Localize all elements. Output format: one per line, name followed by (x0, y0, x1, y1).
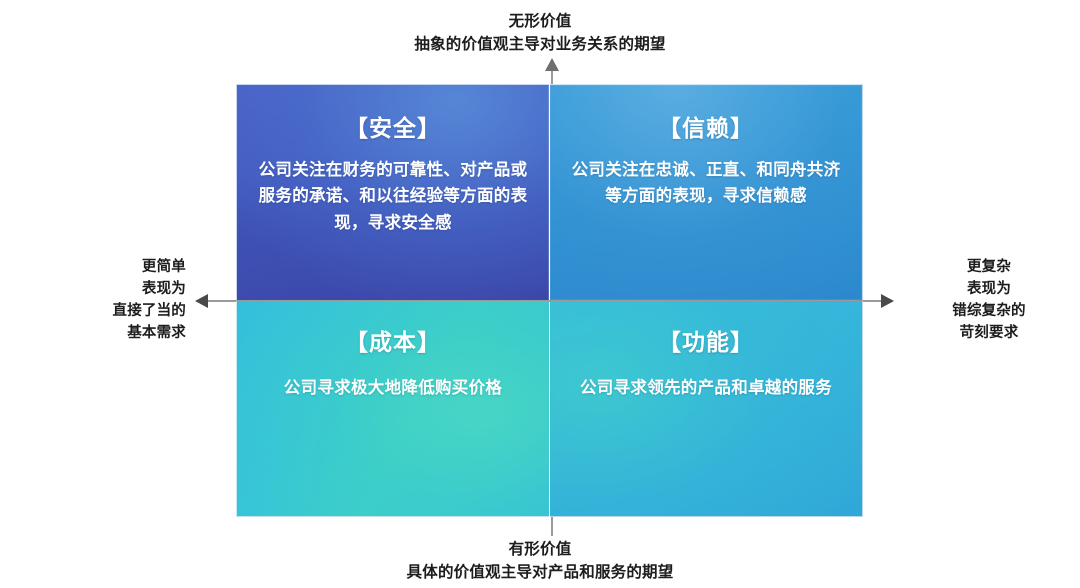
left-arrow-icon (195, 294, 208, 308)
quadrant-function-body: 公司寻求领先的产品和卓越的服务 (566, 375, 846, 402)
axis-label-top-description: 抽象的价值观主导对业务关系的期望 (0, 33, 1080, 56)
axis-label-bottom-description: 具体的价值观主导对产品和服务的期望 (0, 561, 1080, 584)
quadrant-function-content: 【功能】 公司寻求领先的产品和卓越的服务 (550, 329, 862, 401)
right-arrow-icon (881, 294, 894, 308)
quadrant-cost-body: 公司寻求极大地降低购买价格 (253, 375, 533, 402)
quadrant-security[interactable]: 【安全】 公司关注在财务的可靠性、对产品或服务的承诺、和以往经验等方面的表现，寻… (236, 84, 549, 300)
axis-label-right-line-4: 苛刻要求 (898, 322, 1080, 344)
axis-label-bottom: 有形价值 具体的价值观主导对产品和服务的期望 (0, 538, 1080, 585)
axis-label-bottom-title: 有形价值 (0, 538, 1080, 561)
quadrant-security-body: 公司关注在财务的可靠性、对产品或服务的承诺、和以往经验等方面的表现，寻求安全感 (253, 157, 533, 237)
axis-label-right-line-3: 错综复杂的 (898, 300, 1080, 322)
quadrant-trust[interactable]: 【信赖】 公司关注在忠诚、正直、和同舟共济等方面的表现，寻求信赖感 (550, 84, 863, 300)
quadrant-cost[interactable]: 【成本】 公司寻求极大地降低购买价格 (236, 301, 549, 517)
quadrant-function[interactable]: 【功能】 公司寻求领先的产品和卓越的服务 (550, 301, 863, 517)
axis-label-left-line-1: 更简单 (0, 256, 186, 278)
axis-label-left-line-2: 表现为 (0, 278, 186, 300)
axis-label-right-line-2: 表现为 (898, 278, 1080, 300)
quadrant-matrix: 【安全】 公司关注在财务的可靠性、对产品或服务的承诺、和以往经验等方面的表现，寻… (236, 84, 863, 517)
axis-label-left-line-4: 基本需求 (0, 322, 186, 344)
axis-label-left: 更简单 表现为 直接了当的 基本需求 (0, 256, 186, 344)
axis-label-top: 无形价值 抽象的价值观主导对业务关系的期望 (0, 10, 1080, 57)
quadrant-security-title: 【安全】 (253, 115, 533, 143)
axis-label-top-title: 无形价值 (0, 10, 1080, 33)
quadrant-trust-content: 【信赖】 公司关注在忠诚、正直、和同舟共济等方面的表现，寻求信赖感 (550, 115, 862, 210)
quadrant-function-title: 【功能】 (566, 329, 846, 357)
quadrant-cost-content: 【成本】 公司寻求极大地降低购买价格 (237, 329, 549, 401)
axis-label-left-line-3: 直接了当的 (0, 300, 186, 322)
up-arrow-icon (545, 58, 559, 71)
quadrant-trust-body: 公司关注在忠诚、正直、和同舟共济等方面的表现，寻求信赖感 (566, 157, 846, 210)
axis-label-right: 更复杂 表现为 错综复杂的 苛刻要求 (898, 256, 1080, 344)
quadrant-trust-title: 【信赖】 (566, 115, 846, 143)
value-matrix-diagram: 【安全】 公司关注在财务的可靠性、对产品或服务的承诺、和以往经验等方面的表现，寻… (0, 0, 1080, 588)
axis-label-right-line-1: 更复杂 (898, 256, 1080, 278)
quadrant-cost-title: 【成本】 (253, 329, 533, 357)
quadrant-security-content: 【安全】 公司关注在财务的可靠性、对产品或服务的承诺、和以往经验等方面的表现，寻… (237, 115, 549, 237)
